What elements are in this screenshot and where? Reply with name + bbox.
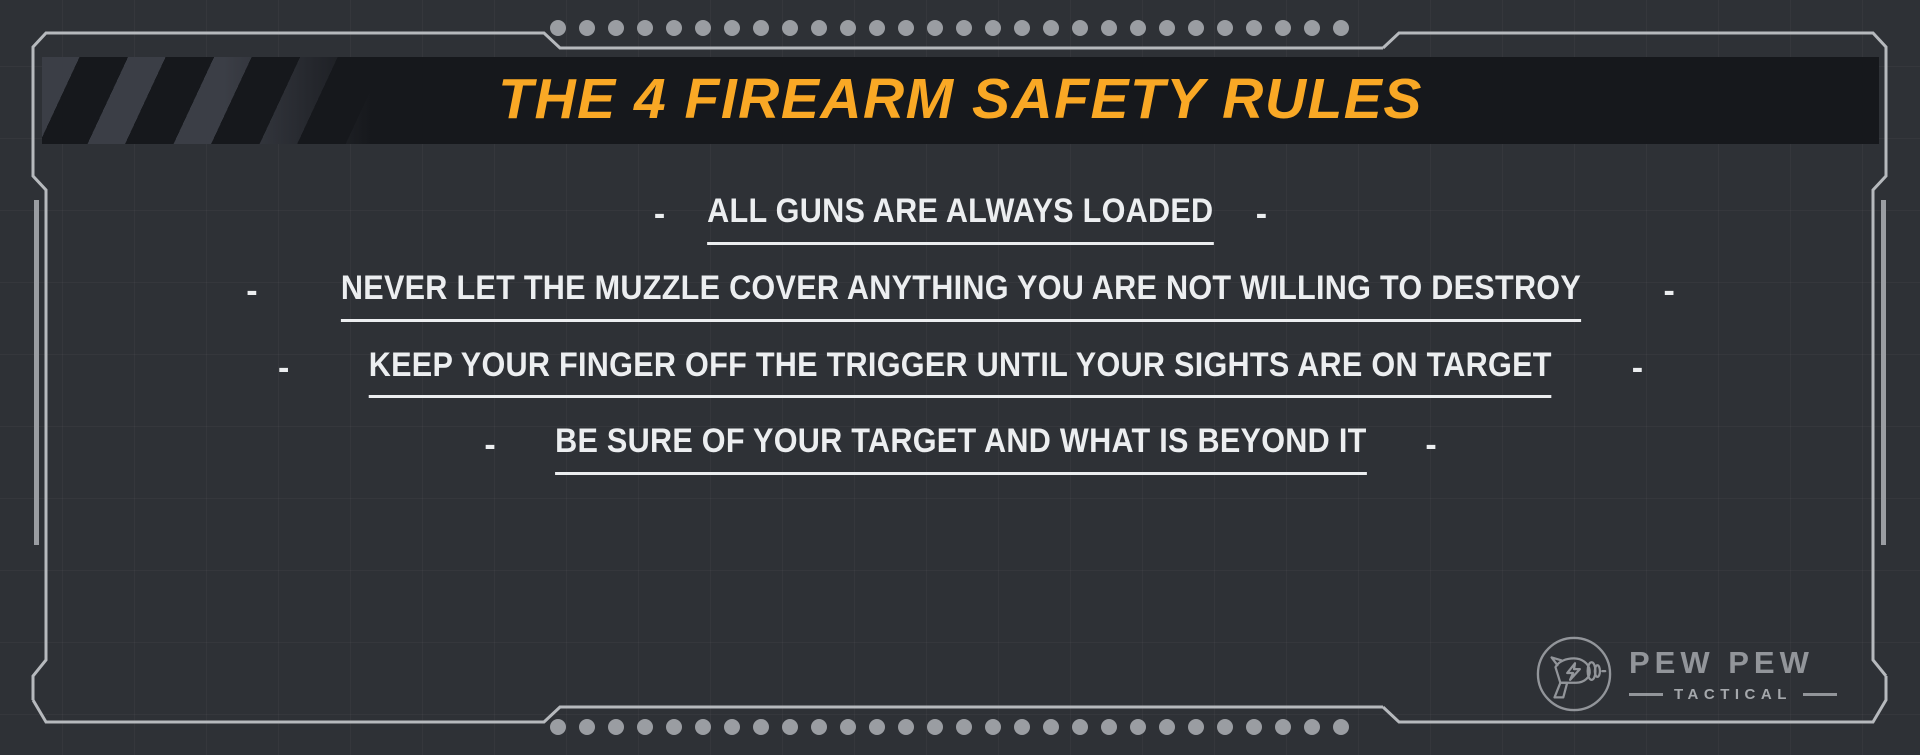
logo-rule-left <box>1629 693 1663 696</box>
top-dot-row <box>550 20 1349 36</box>
dash-left-icon: - <box>640 197 679 237</box>
rule-text-1: ALL GUNS ARE ALWAYS LOADED <box>707 190 1213 245</box>
ray-gun-icon <box>1535 635 1613 713</box>
logo-brand-text: PEW PEW <box>1629 647 1837 678</box>
dash-left-icon: - <box>264 351 303 391</box>
dash-right-icon: - <box>1411 428 1450 468</box>
dash-right-icon: - <box>1618 351 1657 391</box>
logo-tagline-text: TACTICAL <box>1663 687 1803 702</box>
infographic-poster: THE 4 FIREARM SAFETY RULES - ALL GUNS AR… <box>0 0 1920 755</box>
rule-text-2: NEVER LET THE MUZZLE COVER ANYTHING YOU … <box>340 267 1580 322</box>
brand-logo: PEW PEW TACTICAL <box>1535 628 1865 720</box>
logo-tagline-row: TACTICAL <box>1629 687 1837 702</box>
dash-left-icon: - <box>470 428 509 468</box>
title-band: THE 4 FIREARM SAFETY RULES <box>42 57 1879 144</box>
dash-right-icon: - <box>1242 197 1281 237</box>
bottom-dot-row <box>550 719 1349 735</box>
rule-item-2: - NEVER LET THE MUZZLE COVER ANYTHING YO… <box>232 267 1689 322</box>
rule-item-1: - ALL GUNS ARE ALWAYS LOADED - <box>640 190 1281 245</box>
logo-rule-right <box>1803 693 1837 696</box>
rule-text-3: KEEP YOUR FINGER OFF THE TRIGGER UNTIL Y… <box>369 344 1552 399</box>
rules-list: - ALL GUNS ARE ALWAYS LOADED - - NEVER L… <box>42 190 1879 475</box>
rule-item-4: - BE SURE OF YOUR TARGET AND WHAT IS BEY… <box>470 420 1450 475</box>
rule-item-3: - KEEP YOUR FINGER OFF THE TRIGGER UNTIL… <box>264 344 1657 399</box>
page-title: THE 4 FIREARM SAFETY RULES <box>42 57 1879 144</box>
rule-text-4: BE SURE OF YOUR TARGET AND WHAT IS BEYON… <box>555 420 1366 475</box>
logo-wordmark: PEW PEW TACTICAL <box>1629 647 1837 702</box>
dash-left-icon: - <box>232 274 271 314</box>
dash-right-icon: - <box>1649 274 1688 314</box>
